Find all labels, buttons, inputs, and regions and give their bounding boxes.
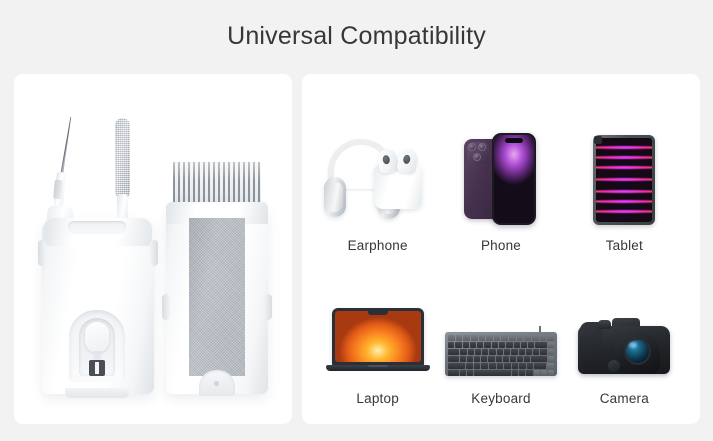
left-body-collar [44,218,152,246]
keyboard-keys [448,335,554,373]
headphone-earcup-left [324,177,346,217]
earphone-icon [322,129,434,225]
phone-front [492,133,536,225]
laptop-screen [335,311,421,362]
phone-camera-lens [468,143,476,151]
pick-grip [53,180,63,200]
camera-mode-dial [598,320,611,329]
left-body-foot [65,388,129,398]
earbud-right [396,148,419,175]
collar-notch [68,221,126,234]
device-label-earphone: Earphone [348,238,408,253]
left-body-shell [42,218,154,394]
wallpaper-wave [596,166,652,169]
laptop-notch [368,311,388,315]
device-label-phone: Phone [481,238,521,253]
device-grid: Earphone [302,74,700,424]
wallpaper-wave [596,200,652,203]
right-side-tab-right [264,294,272,320]
earbud-left [376,148,399,175]
device-label-keyboard: Keyboard [471,391,530,406]
tool-body-left [42,114,154,394]
wallpaper-wave [596,178,652,181]
device-cell-keyboard: Keyboard [439,253,562,406]
device-cell-camera: Camera [563,253,686,406]
wallpaper-wave [596,210,652,213]
keyboard-row [448,356,554,362]
right-side-tab-left [162,294,170,320]
phone-camera-lens [473,153,481,161]
tablet-screen [596,138,652,222]
page-title: Universal Compatibility [0,22,713,51]
product-image-card [14,74,292,424]
laptop-base [326,365,430,371]
keyboard-row [448,335,554,341]
right-body-foot [199,370,235,396]
phone-screen [494,135,534,223]
device-label-laptop: Laptop [356,391,399,406]
cleaning-kit-illustration [14,74,292,424]
camera-icon [578,282,670,378]
keyboard-row [448,349,554,355]
keyboard-icon [445,282,557,378]
keyboard-body [445,332,557,376]
keyboard-row [448,342,554,348]
compatible-devices-card: Earphone [302,74,700,424]
phone-notch [505,138,523,143]
brush-comb-icon [173,162,261,204]
device-label-camera: Camera [600,391,649,406]
tool-body-right [166,162,268,394]
phone-camera-lens [478,143,486,151]
keyboard-row [448,370,554,376]
wallpaper-wave [596,190,652,193]
keycap-puller-button [85,322,109,353]
wallpaper-wave [596,156,652,159]
earcup-pad [327,182,343,212]
side-tab-left [38,240,46,266]
tablet-body [593,135,655,225]
sponge-stylus-icon [115,118,130,199]
device-label-tablet: Tablet [606,238,643,253]
infographic-page: Universal Compatibility [0,0,713,441]
keyboard-row [448,363,554,369]
phone-camera-island [467,142,489,164]
wallpaper-wave [596,146,652,149]
laptop-icon [326,282,430,378]
phone-icon [464,129,538,225]
device-cell-laptop: Laptop [316,253,439,406]
device-cell-earphone: Earphone [316,100,439,253]
device-cell-phone: Phone [439,100,562,253]
right-body-shell [166,202,268,394]
device-cell-tablet: Tablet [563,100,686,253]
tablet-icon [593,129,655,225]
tablet-camera [594,136,602,144]
side-tab-right [150,240,158,266]
laptop-lid [332,308,424,366]
felt-cleaning-strip [189,218,245,376]
keycap-puller-slot [89,360,105,376]
